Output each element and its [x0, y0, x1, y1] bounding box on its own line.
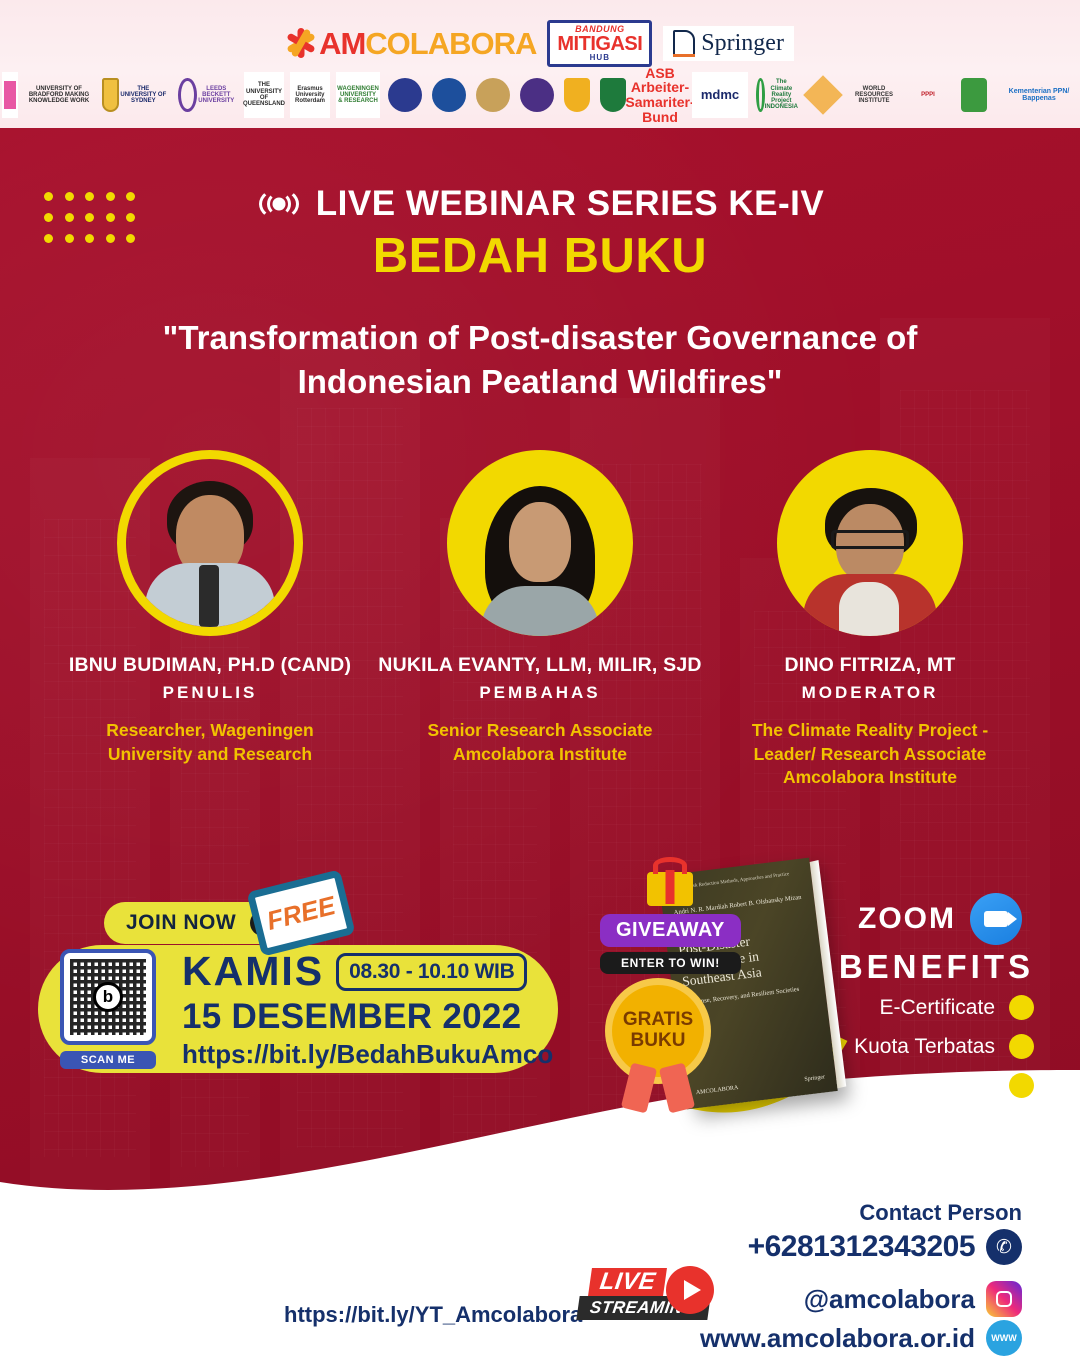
- springer-horse-icon: [673, 30, 695, 56]
- speaker-affiliation: Researcher, Wageningen University and Re…: [45, 719, 375, 766]
- partner-logo: [518, 72, 556, 118]
- amcolabora-logo: AMCOLABORA: [286, 27, 536, 59]
- free-label: FREE: [264, 890, 339, 937]
- benefits-list: E-Certificate Kuota Terbatas Pengetahuan: [784, 995, 1034, 1112]
- benefit-label: E-Certificate: [879, 996, 995, 1020]
- benefit-item: Pengetahuan: [784, 1073, 1034, 1098]
- speakers-section: IBNU BUDIMAN, PH.D (CAND) PENULIS Resear…: [0, 450, 1080, 789]
- speaker-role: PEMBAHAS: [375, 683, 705, 703]
- speaker-role: MODERATOR: [705, 683, 1035, 703]
- registration-url[interactable]: https://bit.ly/BedahBukuAmco: [182, 1039, 553, 1070]
- gratis-buku-rosette: GRATIS BUKU: [612, 985, 704, 1077]
- website-url[interactable]: www.amcolabora.or.id: [700, 1323, 975, 1354]
- partner-logos: UNIVERSITY OF BRADFORD MAKING KNOWLEDGE …: [0, 66, 1080, 124]
- event-time: 08.30 - 10.10 WIB: [336, 953, 527, 991]
- speaker-photo: [777, 450, 963, 636]
- partner-logo-batik: [806, 72, 840, 118]
- amcolabora-star-icon: [286, 27, 316, 59]
- join-now-label: JOIN NOW: [126, 911, 236, 935]
- rosette-line-1: GRATIS: [623, 1010, 693, 1031]
- rosette-line-2: BUKU: [631, 1031, 686, 1052]
- speaker-affiliation: The Climate Reality Project - Leader/ Re…: [705, 719, 1035, 789]
- partner-logo-bappenas: Kementerian PPN/ Bappenas: [1000, 72, 1078, 118]
- youtube-url[interactable]: https://bit.ly/YT_Amcolabora: [284, 1302, 582, 1328]
- contact-person-label: Contact Person: [700, 1200, 1022, 1226]
- partner-logo: [598, 72, 628, 118]
- benefit-item: Kuota Terbatas: [784, 1034, 1034, 1059]
- contact-section: Contact Person +6281312343205 ✆ @amcolab…: [700, 1200, 1022, 1356]
- bandung-mitigasi-hub-logo: BANDUNG MITIGASI HUB: [547, 20, 652, 67]
- springer-wordmark: Springer: [701, 30, 784, 57]
- enter-to-win-badge: ENTER TO WIN!: [600, 952, 741, 974]
- partner-logo: [474, 72, 512, 118]
- mitigasi-mid: MITIGASI: [557, 34, 642, 54]
- partner-logo-bradford: UNIVERSITY OF BRADFORD MAKING KNOWLEDGE …: [24, 72, 94, 118]
- benefit-label: Pengetahuan: [870, 1074, 995, 1098]
- speaker-card: NUKILA EVANTY, LLM, MILIR, SJD PEMBAHAS …: [375, 450, 705, 766]
- speaker-name: DINO FITRIZA, MT: [705, 654, 1035, 676]
- scan-me-label: SCAN ME: [60, 1051, 156, 1069]
- benefit-bullet-icon: [1009, 995, 1034, 1020]
- partner-logo-sydney: THE UNIVERSITY OF SYDNEY: [100, 72, 170, 118]
- gift-icon: [647, 872, 693, 906]
- avatar: [795, 476, 945, 636]
- phone-icon: ✆: [986, 1229, 1022, 1265]
- partner-logo: [562, 72, 592, 118]
- live-label: LIVE: [588, 1268, 667, 1296]
- instagram-icon: [986, 1281, 1022, 1317]
- qr-code-block[interactable]: b SCAN ME: [60, 949, 168, 1069]
- avatar: [465, 476, 615, 636]
- event-date: 15 DESEMBER 2022: [182, 997, 553, 1037]
- event-day: KAMIS: [182, 948, 324, 995]
- speaker-card: DINO FITRIZA, MT MODERATOR The Climate R…: [705, 450, 1035, 789]
- amcolabora-colabora: COLABORA: [365, 26, 536, 61]
- speaker-name: NUKILA EVANTY, LLM, MILIR, SJD: [375, 654, 705, 676]
- partner-logo: [386, 72, 424, 118]
- live-webinar-label: LIVE WEBINAR SERIES KE-IV: [316, 186, 824, 221]
- giveaway-block: GIVEAWAY ENTER TO WIN!: [600, 872, 741, 974]
- amcolabora-am: AM: [319, 26, 365, 61]
- partner-logo: [430, 72, 468, 118]
- instagram-handle[interactable]: @amcolabora: [804, 1284, 975, 1315]
- event-date-details: KAMIS 08.30 - 10.10 WIB 15 DESEMBER 2022…: [168, 948, 553, 1070]
- speaker-photo: [447, 450, 633, 636]
- amcolabora-wordmark: AMCOLABORA: [319, 28, 536, 59]
- qr-code[interactable]: b: [60, 949, 156, 1045]
- speaker-card: IBNU BUDIMAN, PH.D (CAND) PENULIS Resear…: [45, 450, 375, 766]
- speaker-photo: [117, 450, 303, 636]
- speaker-name: IBNU BUDIMAN, PH.D (CAND): [45, 654, 375, 676]
- giveaway-badge: GIVEAWAY: [600, 914, 741, 947]
- partner-logo-wageningen: WAGENINGEN UNIVERSITY & RESEARCH: [336, 72, 380, 118]
- broadcast-icon: [256, 187, 302, 221]
- speaker-affiliation: Senior Research Associate Amcolabora Ins…: [375, 719, 705, 766]
- partner-logo-mdmc: mdmc: [692, 72, 748, 118]
- qr-logo: b: [93, 982, 123, 1012]
- speaker-role: PENULIS: [45, 683, 375, 703]
- benefits-label: BENEFITS: [839, 948, 1034, 986]
- partner-logo-queensland: THE UNIVERSITY OF QUEENSLAND: [244, 72, 284, 118]
- benefit-bullet-icon: [1009, 1073, 1034, 1098]
- partner-logo-erasmus: Erasmus University Rotterdam: [290, 72, 330, 118]
- partner-logo-pppi: PPPI: [908, 72, 948, 118]
- partner-logo-wri: WORLD RESOURCES INSTITUTE: [846, 72, 902, 118]
- benefit-item: E-Certificate: [784, 995, 1034, 1020]
- springer-logo: Springer: [663, 26, 794, 61]
- live-streaming-badge: LIVE STREAMING: [570, 1268, 710, 1324]
- mitigasi-bottom: HUB: [557, 54, 642, 62]
- avatar: [135, 467, 285, 627]
- bedah-buku-title: BEDAH BUKU: [0, 228, 1080, 284]
- globe-icon: WWW: [986, 1320, 1022, 1356]
- partner-logo: [2, 72, 18, 118]
- partner-logo-leeds-beckett: LEEDS BECKETT UNIVERSITY: [176, 72, 238, 118]
- live-webinar-heading: LIVE WEBINAR SERIES KE-IV: [0, 186, 1080, 221]
- partner-logo-asb: ASB Arbeiter-Samariter-Bund: [634, 72, 686, 118]
- zoom-label: ZOOM: [858, 902, 956, 936]
- contact-phone[interactable]: +6281312343205: [748, 1230, 975, 1264]
- book-subject-title: "Transformation of Post-disaster Governa…: [90, 316, 990, 403]
- brand-logo-row: AMCOLABORA BANDUNG MITIGASI HUB Springer: [0, 20, 1080, 66]
- event-date-card: b SCAN ME KAMIS 08.30 - 10.10 WIB 15 DES…: [38, 945, 558, 1073]
- partner-logo-band: AMCOLABORA BANDUNG MITIGASI HUB Springer…: [0, 0, 1080, 128]
- benefit-bullet-icon: [1009, 1034, 1034, 1059]
- book-publisher-amcolabora: AMCOLABORA: [696, 1085, 739, 1096]
- partner-logo-kehutanan: [954, 72, 994, 118]
- video-camera-icon: [970, 893, 1022, 945]
- zoom-heading: ZOOM: [858, 893, 1022, 945]
- partner-logo-climate-reality: The Climate Reality Project INDONESIA: [754, 72, 800, 118]
- benefit-label: Kuota Terbatas: [854, 1035, 995, 1059]
